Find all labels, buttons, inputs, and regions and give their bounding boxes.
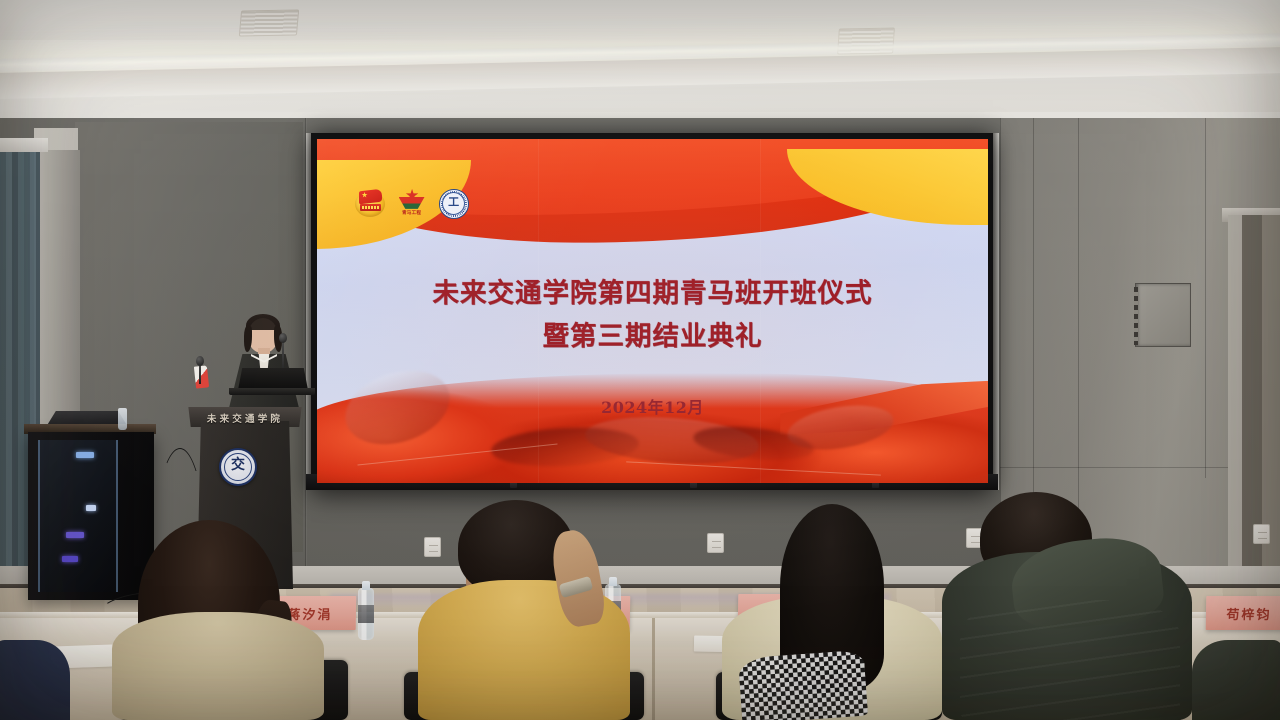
slide-date: 2024年12月 [317,394,988,418]
bottle-label [358,605,374,623]
photo-scene: 青马工程 工 未来交通学院第四期青马班开班仪式 暨第三期结业典礼 2024年12… [0,0,1280,720]
communist-youth-league-emblem-icon [355,189,385,219]
led-video-wall[interactable]: 青马工程 工 未来交通学院第四期青马班开班仪式 暨第三期结业典礼 2024年12… [311,133,993,490]
slide-logo-row: 青马工程 工 [355,189,469,219]
desk-flag [194,365,209,388]
doorway-recess[interactable] [1228,215,1280,615]
ceiling-soffit [0,0,1280,40]
table-seam [652,618,655,720]
podium-seal-mark: 交 [231,459,245,473]
podium-laptop-base [229,388,315,395]
wall-panel-seam [1205,118,1206,478]
screen-bezel-right [993,133,999,490]
slide-title-line-1: 未来交通学院第四期青马班开班仪式 [317,273,988,316]
av-rack-glass-door[interactable] [38,440,118,592]
av-status-led [86,505,96,511]
ceiling-vent-icon [239,9,299,36]
qingma-project-logo-icon: 青马工程 [398,189,426,219]
wall-control-panel[interactable] [1135,283,1191,347]
audience-partial-right [1192,640,1280,720]
av-status-led [76,452,94,458]
university-seal-logo-icon: 工 [439,189,469,219]
university-seal-mark: 工 [448,198,459,209]
audience-partial-left [0,640,70,720]
water-bottle[interactable] [358,588,374,640]
microphone-icon [196,356,204,366]
slide-title-block: 未来交通学院第四期青马班开班仪式 暨第三期结业典礼 [317,273,988,359]
puffer-jacket-quilting [960,600,1180,720]
podium-laptop[interactable] [238,368,308,390]
slide-surface: 青马工程 工 未来交通学院第四期青马班开班仪式 暨第三期结业典礼 2024年12… [317,139,988,483]
slide-title-line-2: 暨第三期结业典礼 [317,316,988,359]
qingma-logo-label: 青马工程 [398,210,426,216]
audience-woman-left [112,612,324,720]
water-bottle [118,408,127,430]
houndstooth-coat [738,650,868,720]
wall-panel-seam [1000,467,1230,468]
wall-outlet[interactable] [424,537,441,557]
av-status-led [66,532,84,538]
podium-nameplate: 未来交通学院 [190,409,300,426]
podium-university-seal-icon: 交 [219,448,257,486]
wall-outlet[interactable] [1253,524,1270,544]
wall-outlet[interactable] [707,533,724,553]
microphone-icon [279,333,287,343]
av-status-led [62,556,78,562]
curtain-rail [0,138,48,152]
nameplate-right: 苟梓钧 [1206,596,1280,630]
